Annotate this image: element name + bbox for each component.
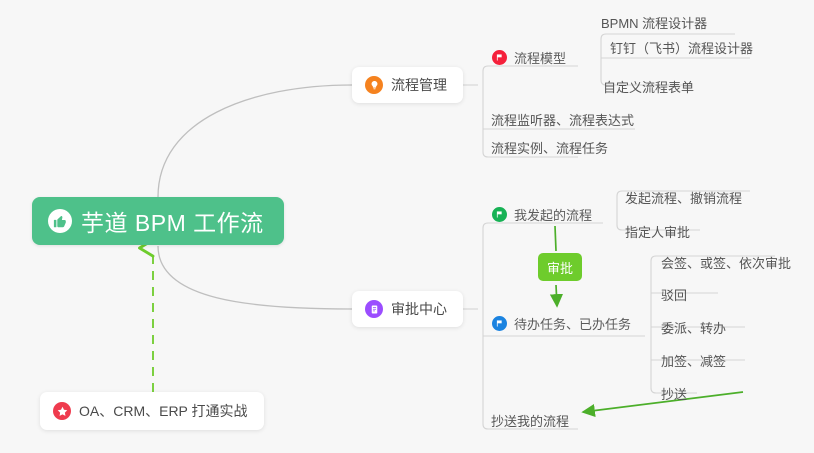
leaf-delegate-transfer[interactable]: 委派、转办	[661, 315, 726, 339]
leaf-label-assignee-approval: 指定人审批	[625, 222, 690, 241]
edge-root-to-approval-center	[158, 246, 352, 309]
leaf-label-instance-task: 流程实例、流程任务	[491, 138, 608, 157]
arrow-initiated-to-tag	[555, 226, 556, 251]
root-node-label: 芋道 BPM 工作流	[81, 204, 264, 238]
tag-label-approval: 审批	[547, 258, 573, 277]
leaf-start-cancel-process[interactable]: 发起流程、撤销流程	[625, 185, 742, 209]
leaf-label-dingtalk-feishu-designer: 钉钉（飞书）流程设计器	[610, 38, 753, 57]
leaf-add-remove-sign[interactable]: 加签、减签	[661, 348, 726, 372]
node-todo-done-tasks[interactable]: 待办任务、已办任务	[492, 310, 631, 336]
leaf-label-multi-sign: 会签、或签、依次审批	[661, 253, 791, 272]
leaf-label-delegate-transfer: 委派、转办	[661, 318, 726, 337]
annotation-node[interactable]: OA、CRM、ERP 打通实战	[40, 392, 264, 430]
node-my-initiated[interactable]: 我发起的流程	[492, 201, 592, 227]
flag-green-icon	[492, 207, 507, 222]
leaf-label-start-cancel-process: 发起流程、撤销流程	[625, 188, 742, 207]
leaf-label-carbon-copy: 抄送	[661, 384, 687, 403]
leaf-label-add-remove-sign: 加签、减签	[661, 351, 726, 370]
leaf-label-bpmn-designer: BPMN 流程设计器	[601, 13, 707, 32]
branch-node-process-management[interactable]: 流程管理	[352, 67, 463, 103]
leaf-multi-sign[interactable]: 会签、或签、依次审批	[661, 250, 791, 274]
leaf-dingtalk-feishu-designer[interactable]: 钉钉（飞书）流程设计器	[610, 35, 753, 59]
branch-node-approval-center[interactable]: 审批中心	[352, 291, 463, 327]
flag-blue-icon	[492, 316, 507, 331]
branch-label-approval-center: 审批中心	[391, 299, 447, 319]
document-icon	[365, 300, 383, 318]
node-process-model[interactable]: 流程模型	[492, 44, 566, 70]
lightbulb-icon	[365, 76, 383, 94]
leaf-reject[interactable]: 驳回	[661, 282, 687, 306]
leaf-label-custom-process-form: 自定义流程表单	[603, 77, 694, 96]
annotation-node-label: OA、CRM、ERP 打通实战	[79, 401, 248, 421]
leaf-assignee-approval[interactable]: 指定人审批	[625, 219, 690, 243]
leaf-label-cc-to-me: 抄送我的流程	[491, 411, 569, 430]
leaf-listener-expression[interactable]: 流程监听器、流程表达式	[491, 107, 634, 131]
leaf-carbon-copy[interactable]: 抄送	[661, 381, 687, 405]
node-label-todo-done-tasks: 待办任务、已办任务	[514, 314, 631, 333]
root-node[interactable]: 芋道 BPM 工作流	[32, 197, 284, 245]
star-icon	[53, 402, 71, 420]
thumbs-up-icon	[48, 209, 72, 233]
leaf-label-listener-expression: 流程监听器、流程表达式	[491, 110, 634, 129]
node-label-process-model: 流程模型	[514, 48, 566, 67]
arrow-tag-to-todo	[556, 285, 557, 306]
flag-red-icon	[492, 50, 507, 65]
leaf-instance-task[interactable]: 流程实例、流程任务	[491, 135, 608, 159]
node-label-my-initiated: 我发起的流程	[514, 205, 592, 224]
leaf-bpmn-designer[interactable]: BPMN 流程设计器	[601, 10, 707, 34]
mindmap-canvas: 芋道 BPM 工作流 OA、CRM、ERP 打通实战 流程管理 流程模型	[0, 0, 814, 453]
leaf-label-reject: 驳回	[661, 285, 687, 304]
leaf-custom-process-form[interactable]: 自定义流程表单	[603, 74, 694, 98]
leaf-cc-to-me[interactable]: 抄送我的流程	[491, 408, 569, 432]
branch-label-process-management: 流程管理	[391, 75, 447, 95]
tag-node-approval[interactable]: 审批	[538, 253, 582, 281]
edge-root-to-process-management	[158, 85, 352, 197]
